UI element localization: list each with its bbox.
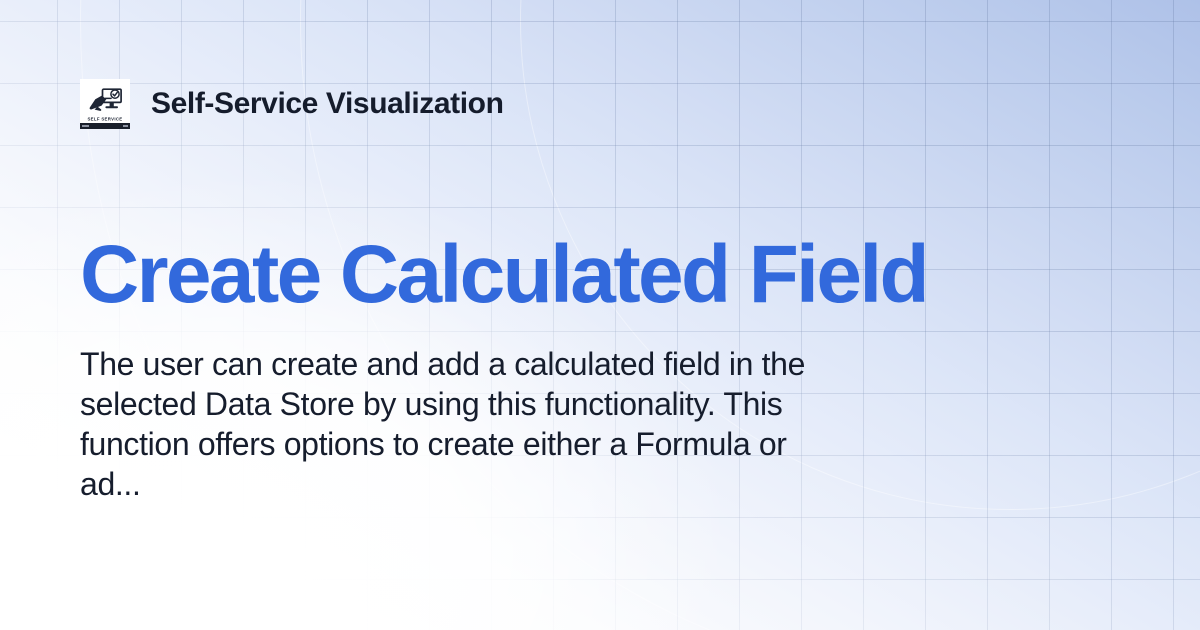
card-content: SELF SERVICE Self-Service Visualization … xyxy=(0,0,1200,630)
favicon-caption: SELF SERVICE xyxy=(87,116,122,121)
favicon-tile: SELF SERVICE xyxy=(80,79,130,129)
self-service-monitor-check-icon xyxy=(88,88,122,114)
brand-name: Self-Service Visualization xyxy=(151,87,504,121)
page-description: The user can create and add a calculated… xyxy=(80,344,850,504)
favicon-bottom-bar xyxy=(80,123,130,129)
page-title: Create Calculated Field xyxy=(80,233,1120,317)
social-preview-card: SELF SERVICE Self-Service Visualization … xyxy=(0,0,1200,630)
brand-row: SELF SERVICE Self-Service Visualization xyxy=(80,78,1120,130)
